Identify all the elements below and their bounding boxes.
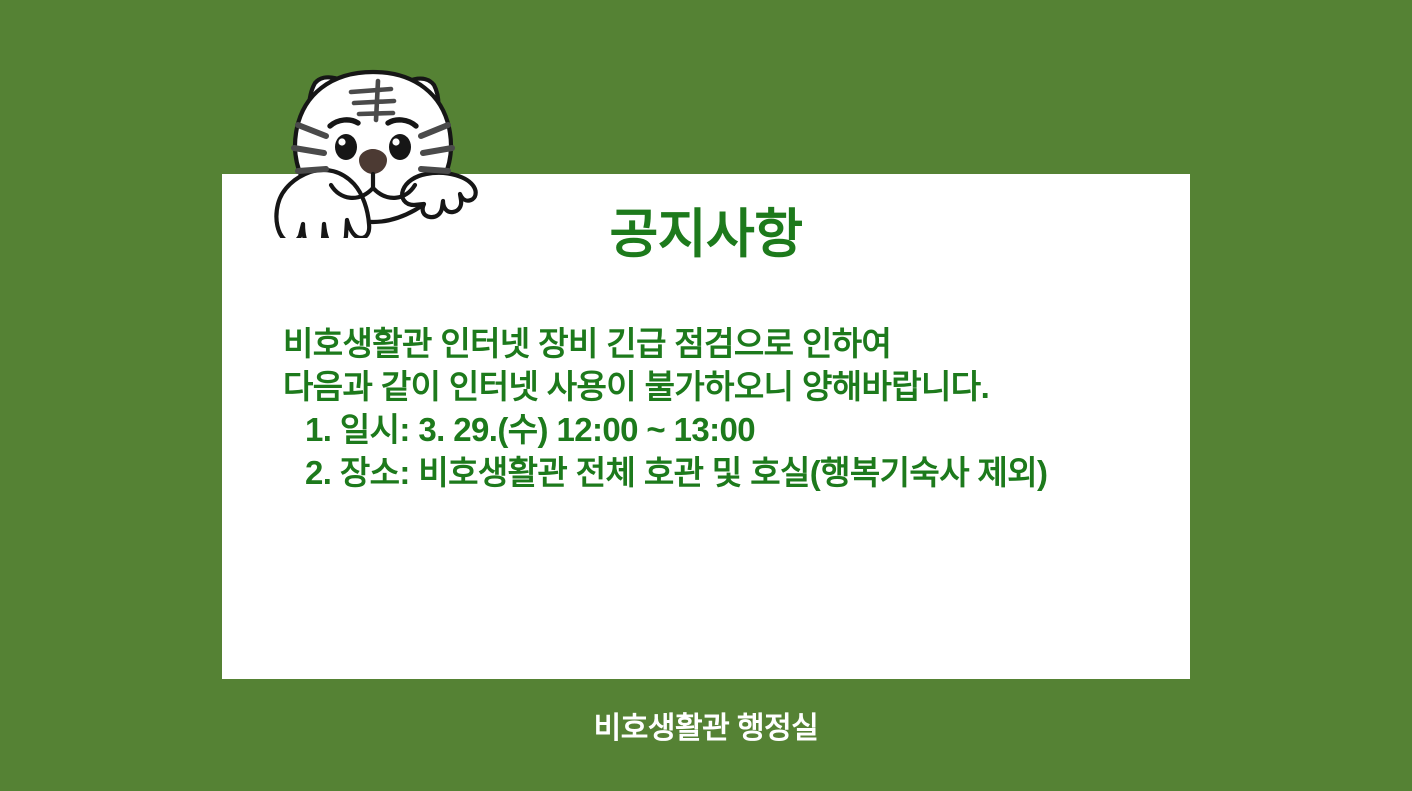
notice-body-line-3: 1. 일시: 3. 29.(수) 12:00 ~ 13:00	[283, 408, 1183, 451]
notice-poster: 공지사항 비호생활관 인터넷 장비 긴급 점검으로 인하여 다음과 같이 인터넷…	[0, 0, 1412, 791]
notice-body-line-4: 2. 장소: 비호생활관 전체 호관 및 호실(행복기숙사 제외)	[283, 451, 1183, 494]
notice-card: 공지사항 비호생활관 인터넷 장비 긴급 점검으로 인하여 다음과 같이 인터넷…	[222, 174, 1190, 679]
notice-body-line-2: 다음과 같이 인터넷 사용이 불가하오니 양해바랍니다.	[283, 365, 1183, 408]
footer-caption: 비호생활관 행정실	[0, 703, 1412, 747]
white-tiger-mascot	[258, 48, 488, 238]
notice-body: 비호생활관 인터넷 장비 긴급 점검으로 인하여 다음과 같이 인터넷 사용이 …	[283, 322, 1183, 494]
notice-body-line-1: 비호생활관 인터넷 장비 긴급 점검으로 인하여	[283, 322, 1183, 365]
